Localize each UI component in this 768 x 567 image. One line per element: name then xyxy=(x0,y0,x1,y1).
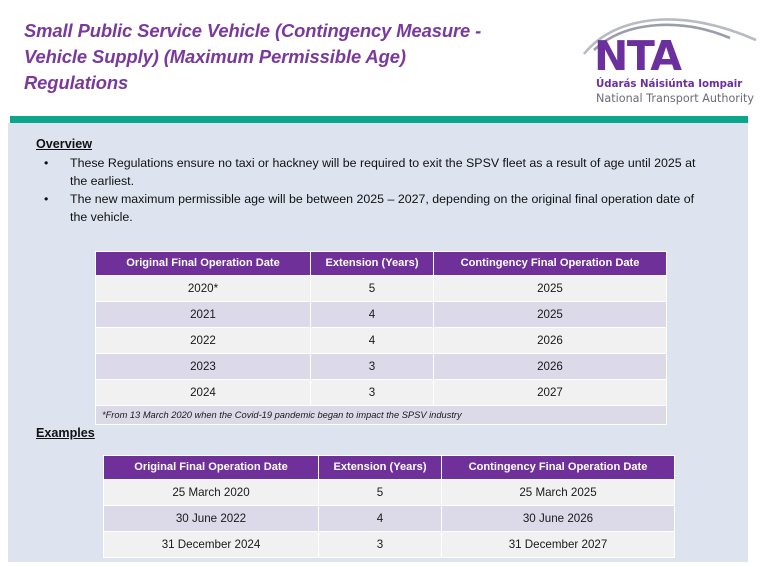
table-header-row: Original Final Operation Date Extension … xyxy=(96,252,666,275)
cell-contingency-date: 2026 xyxy=(434,354,666,379)
table-row: 25 March 2020 5 25 March 2025 xyxy=(104,480,674,505)
cell-original-date: 25 March 2020 xyxy=(104,480,318,505)
cell-contingency-date: 2025 xyxy=(434,302,666,327)
examples-heading: Examples xyxy=(36,426,95,440)
table-header-row: Original Final Operation Date Extension … xyxy=(104,456,674,479)
cell-original-date: 2022 xyxy=(96,328,310,353)
content-panel: Overview • These Regulations ensure no t… xyxy=(8,123,748,562)
cell-extension: 3 xyxy=(311,380,433,405)
nta-wordmark: NTA xyxy=(594,36,681,77)
table-row: 30 June 2022 4 30 June 2026 xyxy=(104,506,674,531)
cell-contingency-date: 2025 xyxy=(434,276,666,301)
column-header-extension-years: Extension (Years) xyxy=(311,252,433,275)
nta-tagline-irish: Údarás Náisiúnta Iompair xyxy=(596,79,742,90)
nta-logo: NTA Údarás Náisiúnta Iompair National Tr… xyxy=(580,6,760,110)
table-footnote-row: *From 13 March 2020 when the Covid-19 pa… xyxy=(96,406,666,424)
contingency-table: Original Final Operation Date Extension … xyxy=(95,251,667,425)
column-header-contingency-final-operation-date: Contingency Final Operation Date xyxy=(442,456,674,479)
cell-extension: 5 xyxy=(311,276,433,301)
cell-contingency-date: 30 June 2026 xyxy=(442,506,674,531)
table-footnote: *From 13 March 2020 when the Covid-19 pa… xyxy=(96,406,666,424)
cell-extension: 4 xyxy=(311,302,433,327)
table-row: 2024 3 2027 xyxy=(96,380,666,405)
teal-divider xyxy=(10,116,748,123)
table-row: 2020* 5 2025 xyxy=(96,276,666,301)
cell-extension: 3 xyxy=(311,354,433,379)
overview-bullet-list: • These Regulations ensure no taxi or ha… xyxy=(36,155,696,227)
bullet-icon: • xyxy=(44,155,48,173)
page-title: Small Public Service Vehicle (Contingenc… xyxy=(24,18,504,96)
cell-contingency-date: 31 December 2027 xyxy=(442,532,674,557)
column-header-contingency-final-operation-date: Contingency Final Operation Date xyxy=(434,252,666,275)
examples-table: Original Final Operation Date Extension … xyxy=(103,455,675,558)
cell-extension: 5 xyxy=(319,480,441,505)
cell-contingency-date: 25 March 2025 xyxy=(442,480,674,505)
cell-contingency-date: 2026 xyxy=(434,328,666,353)
table-row: 2021 4 2025 xyxy=(96,302,666,327)
slide-header: Small Public Service Vehicle (Contingenc… xyxy=(0,0,768,116)
cell-original-date: 2020* xyxy=(96,276,310,301)
column-header-original-final-operation-date: Original Final Operation Date xyxy=(104,456,318,479)
cell-extension: 4 xyxy=(319,506,441,531)
cell-original-date: 2024 xyxy=(96,380,310,405)
table-row: 2022 4 2026 xyxy=(96,328,666,353)
list-item-text: These Regulations ensure no taxi or hack… xyxy=(70,156,695,188)
cell-original-date: 30 June 2022 xyxy=(104,506,318,531)
cell-original-date: 31 December 2024 xyxy=(104,532,318,557)
overview-heading: Overview xyxy=(36,137,92,151)
list-item: • The new maximum permissible age will b… xyxy=(36,191,696,226)
column-header-original-final-operation-date: Original Final Operation Date xyxy=(96,252,310,275)
column-header-extension-years: Extension (Years) xyxy=(319,456,441,479)
table-row: 2023 3 2026 xyxy=(96,354,666,379)
list-item-text: The new maximum permissible age will be … xyxy=(70,192,694,224)
cell-original-date: 2023 xyxy=(96,354,310,379)
cell-extension: 3 xyxy=(319,532,441,557)
cell-original-date: 2021 xyxy=(96,302,310,327)
cell-extension: 4 xyxy=(311,328,433,353)
bullet-icon: • xyxy=(44,191,48,209)
list-item: • These Regulations ensure no taxi or ha… xyxy=(36,155,696,190)
nta-tagline-english: National Transport Authority xyxy=(596,92,754,105)
cell-contingency-date: 2027 xyxy=(434,380,666,405)
table-row: 31 December 2024 3 31 December 2027 xyxy=(104,532,674,557)
